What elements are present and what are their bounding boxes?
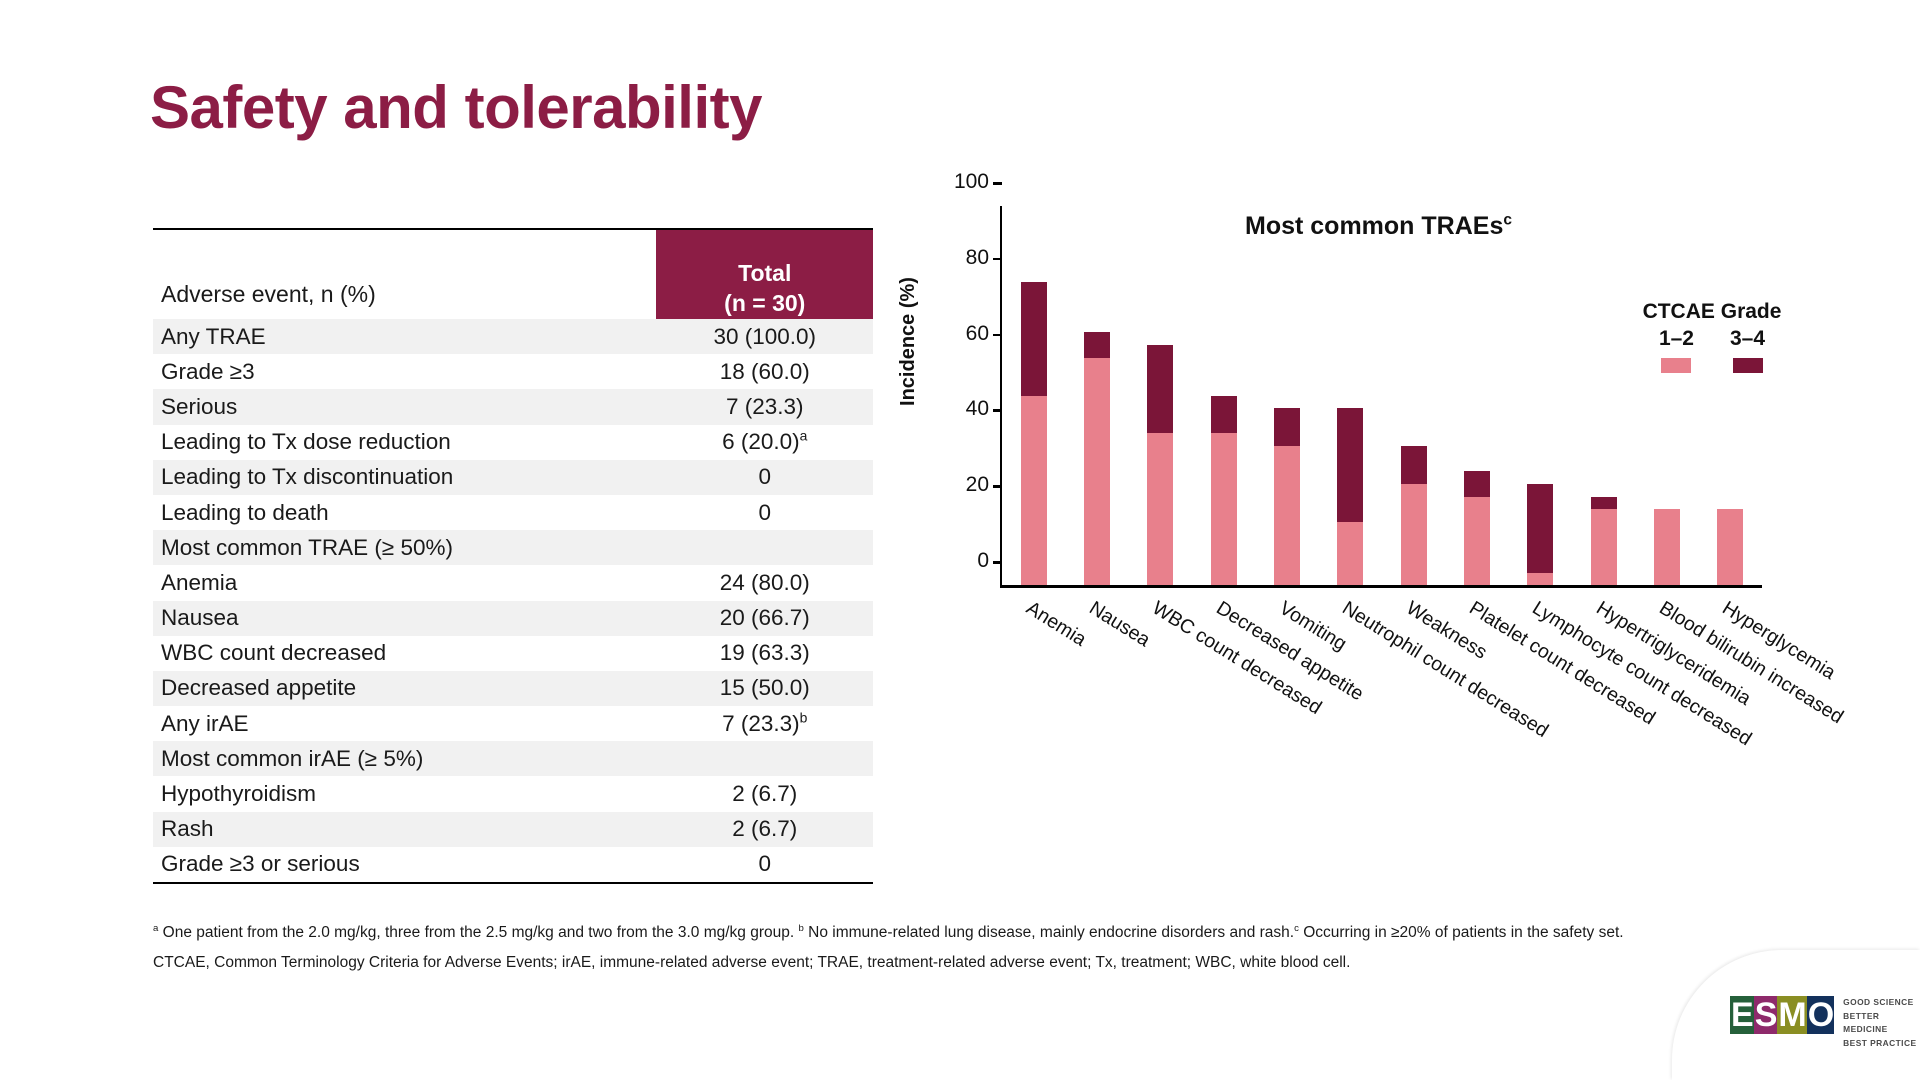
column-header-total-line1: Total <box>656 258 873 289</box>
row-label: Most common TRAE (≥ 50%) <box>153 530 656 565</box>
bar-segment-grade-3-4 <box>1401 446 1427 484</box>
table-bottom-rule <box>153 882 873 884</box>
row-label: Serious <box>153 389 656 424</box>
y-axis-label: Incidence (%) <box>897 277 920 406</box>
bar-segment-grade-1-2 <box>1717 509 1743 585</box>
esmo-tagline-line: GOOD SCIENCE <box>1843 996 1920 1010</box>
legend-item-swatch <box>1661 358 1691 373</box>
table: Adverse event, n (%) Total (n = 30) Any … <box>153 228 873 882</box>
row-label: Grade ≥3 or serious <box>153 847 656 882</box>
row-label: WBC count decreased <box>153 636 656 671</box>
legend-item-swatch <box>1733 358 1763 373</box>
esmo-logo: ESMO GOOD SCIENCEBETTER MEDICINEBEST PRA… <box>1730 996 1920 1050</box>
footnote-b-text: No immune-related lung disease, mainly e… <box>808 924 1294 941</box>
esmo-tagline: GOOD SCIENCEBETTER MEDICINEBEST PRACTICE <box>1843 996 1920 1050</box>
legend-items: 1–23–4 <box>1622 327 1802 373</box>
table-row: Decreased appetite15 (50.0) <box>153 671 873 706</box>
y-axis-tick-label: 0 <box>977 549 1002 573</box>
esmo-logo-letter: O <box>1807 996 1834 1034</box>
row-value-superscript: b <box>800 709 808 725</box>
row-value: 30 (100.0) <box>656 319 873 354</box>
table-row: Leading to Tx discontinuation0 <box>153 460 873 495</box>
table-body: Any TRAE30 (100.0)Grade ≥318 (60.0)Serio… <box>153 319 873 882</box>
bar-group[interactable]: Anemia <box>1021 282 1047 585</box>
row-value: 0 <box>656 495 873 530</box>
chart-legend: CTCAE Grade 1–23–4 <box>1622 300 1802 373</box>
row-label: Grade ≥3 <box>153 354 656 389</box>
y-axis-tick-label: 40 <box>966 397 1002 421</box>
bar-segment-grade-1-2 <box>1337 522 1363 585</box>
y-axis-tick-label: 60 <box>966 322 1002 346</box>
row-value: 7 (23.3)b <box>656 706 873 741</box>
table-row: Rash2 (6.7) <box>153 812 873 847</box>
bar-segment-grade-1-2 <box>1211 433 1237 585</box>
bar-group[interactable]: Neutrophil count decreased <box>1337 408 1363 585</box>
y-axis-tick-label: 20 <box>966 473 1002 497</box>
footnote-a-text: One patient from the 2.0 mg/kg, three fr… <box>163 924 795 941</box>
footnote-c-text: Occurring in ≥20% of patients in the saf… <box>1303 924 1623 941</box>
row-value <box>656 530 873 565</box>
plot-area: 020406080100 AnemiaNauseaWBC count decre… <box>1000 206 1762 588</box>
row-value: 15 (50.0) <box>656 671 873 706</box>
esmo-logo-letter: E <box>1730 996 1754 1034</box>
row-label: Rash <box>153 812 656 847</box>
row-label: Hypothyroidism <box>153 776 656 811</box>
table-row: Grade ≥3 or serious0 <box>153 847 873 882</box>
row-value: 2 (6.7) <box>656 776 873 811</box>
column-header-adverse-event: Adverse event, n (%) <box>153 229 656 319</box>
row-value <box>656 741 873 776</box>
legend-item-label: 3–4 <box>1730 327 1765 351</box>
row-label: Leading to death <box>153 495 656 530</box>
x-axis-tick-label: Anemia <box>1021 597 1089 652</box>
footnote-marker-a: a <box>153 923 158 934</box>
bar-segment-grade-1-2 <box>1591 509 1617 585</box>
adverse-events-table: Adverse event, n (%) Total (n = 30) Any … <box>153 228 873 884</box>
bar-segment-grade-3-4 <box>1337 408 1363 522</box>
footnotes: a One patient from the 2.0 mg/kg, three … <box>153 918 1753 978</box>
bar-group[interactable]: Hyperglycemia <box>1717 509 1743 585</box>
row-value: 18 (60.0) <box>656 354 873 389</box>
row-label: Any irAE <box>153 706 656 741</box>
footnote-abbreviations: CTCAE, Common Terminology Criteria for A… <box>153 948 1753 978</box>
bar-group[interactable]: Nausea <box>1084 332 1110 585</box>
bar-segment-grade-3-4 <box>1464 471 1490 496</box>
bar-group[interactable]: WBC count decreased <box>1147 345 1173 585</box>
bar-segment-grade-3-4 <box>1021 282 1047 396</box>
bar-segment-grade-3-4 <box>1591 497 1617 510</box>
bar-group[interactable]: Weakness <box>1401 446 1427 585</box>
bar-segment-grade-1-2 <box>1021 396 1047 586</box>
esmo-tagline-line: BETTER MEDICINE <box>1843 1010 1920 1037</box>
bar-segment-grade-1-2 <box>1401 484 1427 585</box>
bar-segment-grade-1-2 <box>1147 433 1173 585</box>
row-value: 0 <box>656 847 873 882</box>
bar-group[interactable]: Lymphocyte count decreased <box>1527 484 1553 585</box>
table-row: Serious7 (23.3) <box>153 389 873 424</box>
bar-segment-grade-3-4 <box>1084 332 1110 357</box>
table-row: Any TRAE30 (100.0) <box>153 319 873 354</box>
row-label: Leading to Tx discontinuation <box>153 460 656 495</box>
table-head: Adverse event, n (%) Total (n = 30) <box>153 229 873 319</box>
bar-group[interactable]: Vomiting <box>1274 408 1300 585</box>
column-header-total: Total (n = 30) <box>656 229 873 319</box>
traes-bar-chart: Incidence (%) 020406080100 AnemiaNauseaW… <box>880 200 1780 620</box>
row-label: Anemia <box>153 565 656 600</box>
row-value: 19 (63.3) <box>656 636 873 671</box>
table-row: Grade ≥318 (60.0) <box>153 354 873 389</box>
page-title: Safety and tolerability <box>150 78 762 138</box>
row-value: 24 (80.0) <box>656 565 873 600</box>
row-label: Any TRAE <box>153 319 656 354</box>
bar-segment-grade-3-4 <box>1274 408 1300 446</box>
y-axis-tick-label: 80 <box>966 246 1002 270</box>
row-value: 6 (20.0)a <box>656 425 873 460</box>
bar-segment-grade-1-2 <box>1274 446 1300 585</box>
row-label: Leading to Tx dose reduction <box>153 425 656 460</box>
row-value: 7 (23.3) <box>656 389 873 424</box>
row-value-superscript: a <box>800 428 808 444</box>
y-axis-tick-label: 100 <box>954 170 1002 194</box>
x-axis-tick-label: Nausea <box>1085 597 1154 652</box>
esmo-wordmark: ESMO <box>1730 996 1834 1034</box>
esmo-logo-letter: M <box>1777 996 1806 1034</box>
bar-segment-grade-3-4 <box>1527 484 1553 573</box>
table-header-row: Adverse event, n (%) Total (n = 30) <box>153 229 873 319</box>
row-value: 20 (66.7) <box>656 601 873 636</box>
table-row: Any irAE7 (23.3)b <box>153 706 873 741</box>
row-label: Nausea <box>153 601 656 636</box>
bar-group[interactable]: Hypertriglyceridemia <box>1591 497 1617 585</box>
legend-item[interactable]: 3–4 <box>1730 327 1765 373</box>
esmo-logo-letter: S <box>1754 996 1778 1034</box>
bar-group[interactable]: Decreased appetite <box>1211 396 1237 585</box>
table-row: Most common irAE (≥ 5%) <box>153 741 873 776</box>
legend-title: CTCAE Grade <box>1622 300 1802 324</box>
esmo-tagline-line: BEST PRACTICE <box>1843 1037 1920 1051</box>
footnote-marker-b: b <box>799 923 804 934</box>
row-value: 0 <box>656 460 873 495</box>
column-header-total-line2: (n = 30) <box>656 288 873 319</box>
table-row: Most common TRAE (≥ 50%) <box>153 530 873 565</box>
table-row: WBC count decreased19 (63.3) <box>153 636 873 671</box>
legend-item[interactable]: 1–2 <box>1659 327 1694 373</box>
bar-segment-grade-1-2 <box>1527 573 1553 586</box>
bar-group[interactable]: Blood bilirubin increased <box>1654 509 1680 585</box>
row-label: Most common irAE (≥ 5%) <box>153 741 656 776</box>
bar-segment-grade-1-2 <box>1654 509 1680 585</box>
table-row: Leading to death0 <box>153 495 873 530</box>
bar-segment-grade-1-2 <box>1084 358 1110 585</box>
footnote-line-1: a One patient from the 2.0 mg/kg, three … <box>153 918 1753 948</box>
table-row: Leading to Tx dose reduction6 (20.0)a <box>153 425 873 460</box>
bar-segment-grade-1-2 <box>1464 497 1490 585</box>
footnote-marker-c: c <box>1294 923 1299 934</box>
legend-item-label: 1–2 <box>1659 327 1694 351</box>
table-row: Anemia24 (80.0) <box>153 565 873 600</box>
row-value: 2 (6.7) <box>656 812 873 847</box>
row-label: Decreased appetite <box>153 671 656 706</box>
bar-segment-grade-3-4 <box>1211 396 1237 434</box>
bar-segment-grade-3-4 <box>1147 345 1173 433</box>
table-row: Nausea20 (66.7) <box>153 601 873 636</box>
table-row: Hypothyroidism2 (6.7) <box>153 776 873 811</box>
bar-group[interactable]: Platelet count decreased <box>1464 471 1490 585</box>
